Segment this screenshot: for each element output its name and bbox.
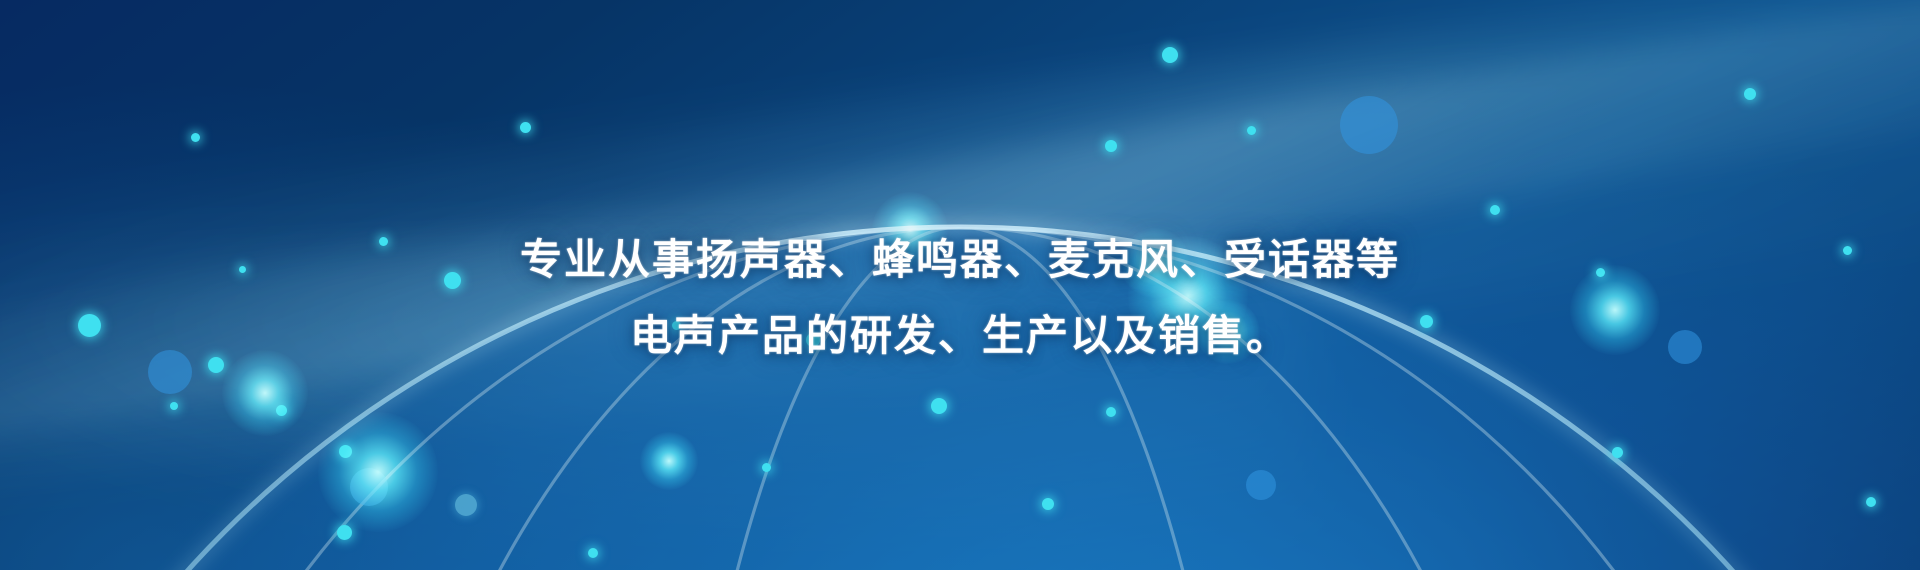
headline-line-1: 专业从事扬声器、蜂鸣器、麦克风、受话器等 <box>520 237 1400 283</box>
headline-line-2: 电声产品的研发、生产以及销售。 <box>630 313 1290 359</box>
hero-banner: 专业从事扬声器、蜂鸣器、麦克风、受话器等 电声产品的研发、生产以及销售。 <box>0 0 1920 570</box>
headline-block: 专业从事扬声器、蜂鸣器、麦克风、受话器等 电声产品的研发、生产以及销售。 <box>0 0 1920 570</box>
